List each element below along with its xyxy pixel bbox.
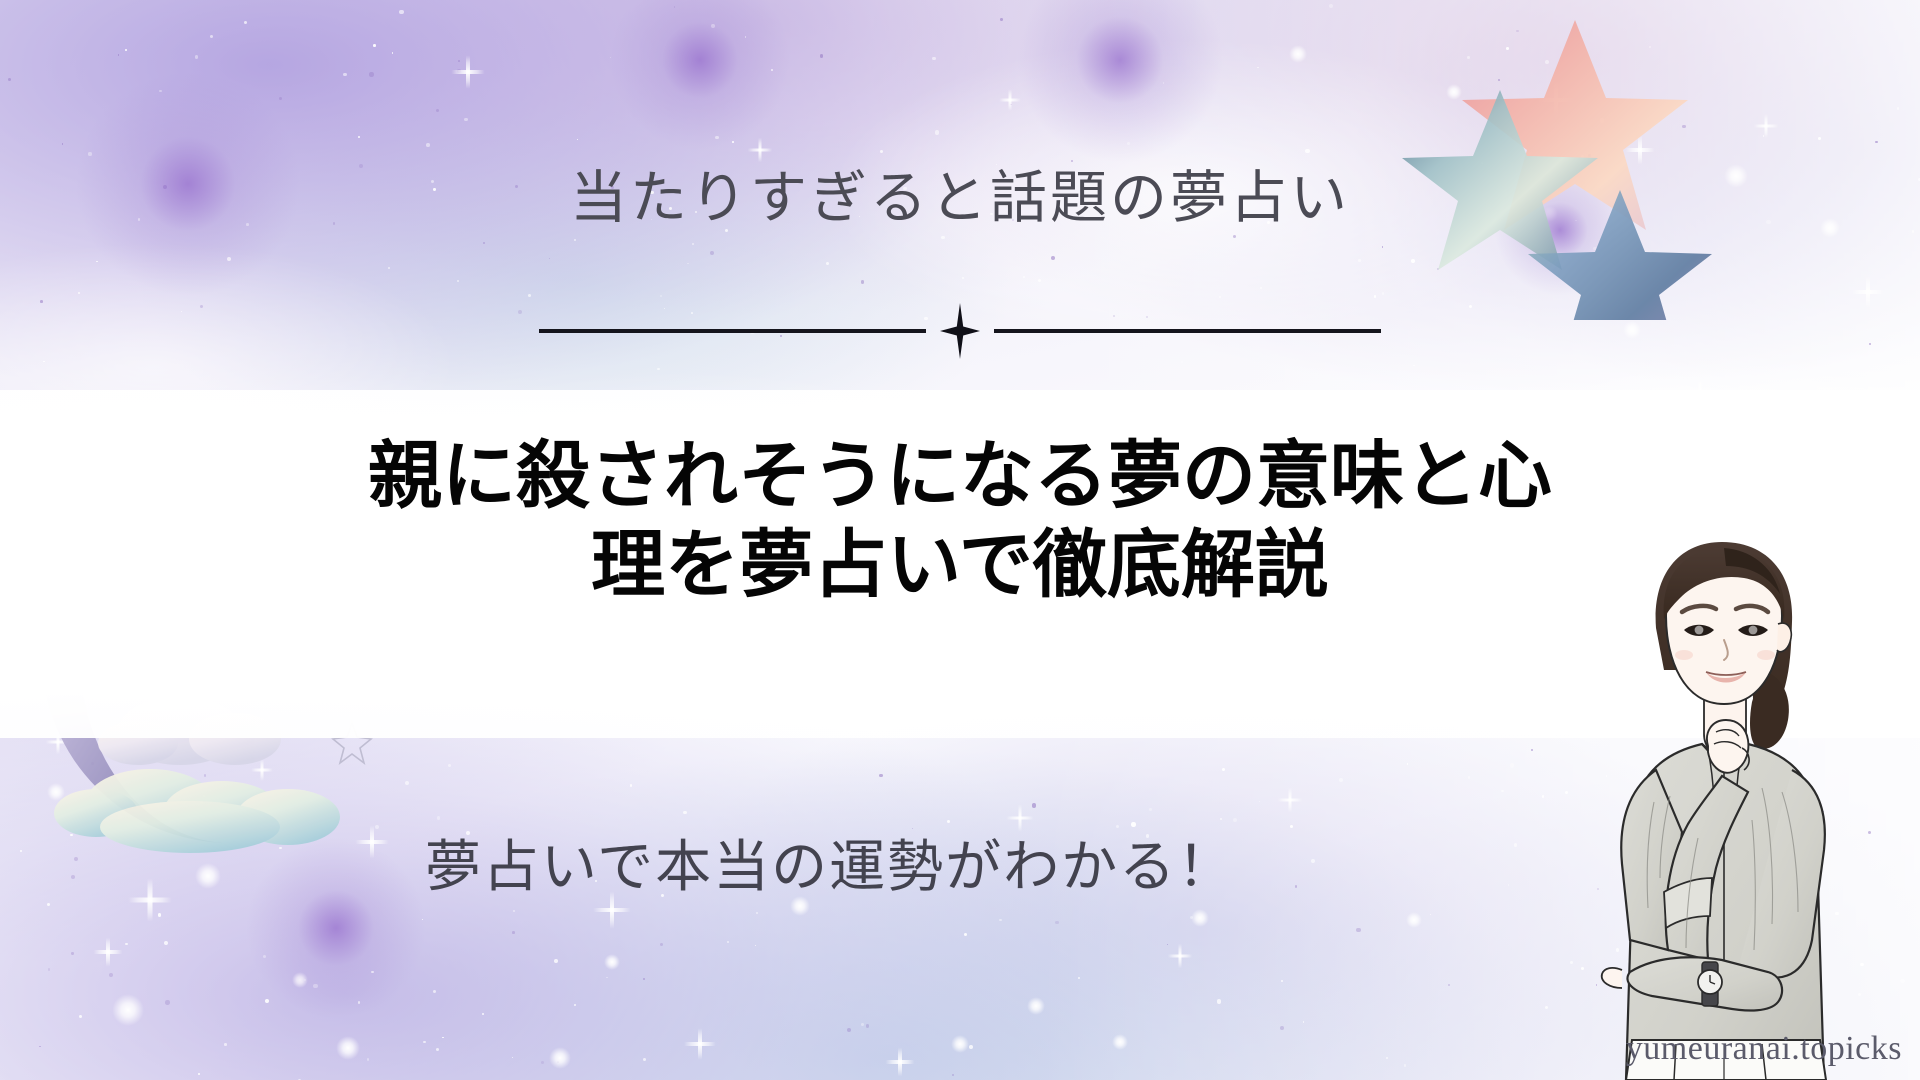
- divider-line-left: [539, 329, 926, 333]
- eyebrow-heading: 当たりすぎると話題の夢占い: [0, 168, 1920, 231]
- watercolor-stars-group: [1400, 0, 1920, 320]
- four-point-sparkle-icon: [940, 303, 980, 359]
- divider: [539, 303, 1381, 359]
- hero-banner: 当たりすぎると話題の夢占い 親に殺されそうになる夢の意味と心 理を夢占いで徹底解…: [0, 0, 1920, 1080]
- watermark: yumeuranai.topicks: [1626, 1030, 1902, 1068]
- woman-thinking-illustration: [1556, 520, 1896, 1080]
- page-title-line-1: 親に殺されそうになる夢の意味と心: [260, 432, 1660, 521]
- page-title-line-2: 理を夢占いで徹底解説: [260, 521, 1660, 610]
- eyebrow-heading-text: 当たりすぎると話題の夢占い: [0, 168, 1920, 231]
- divider-line-right: [994, 329, 1381, 333]
- wristwatch-icon: [1698, 962, 1722, 1006]
